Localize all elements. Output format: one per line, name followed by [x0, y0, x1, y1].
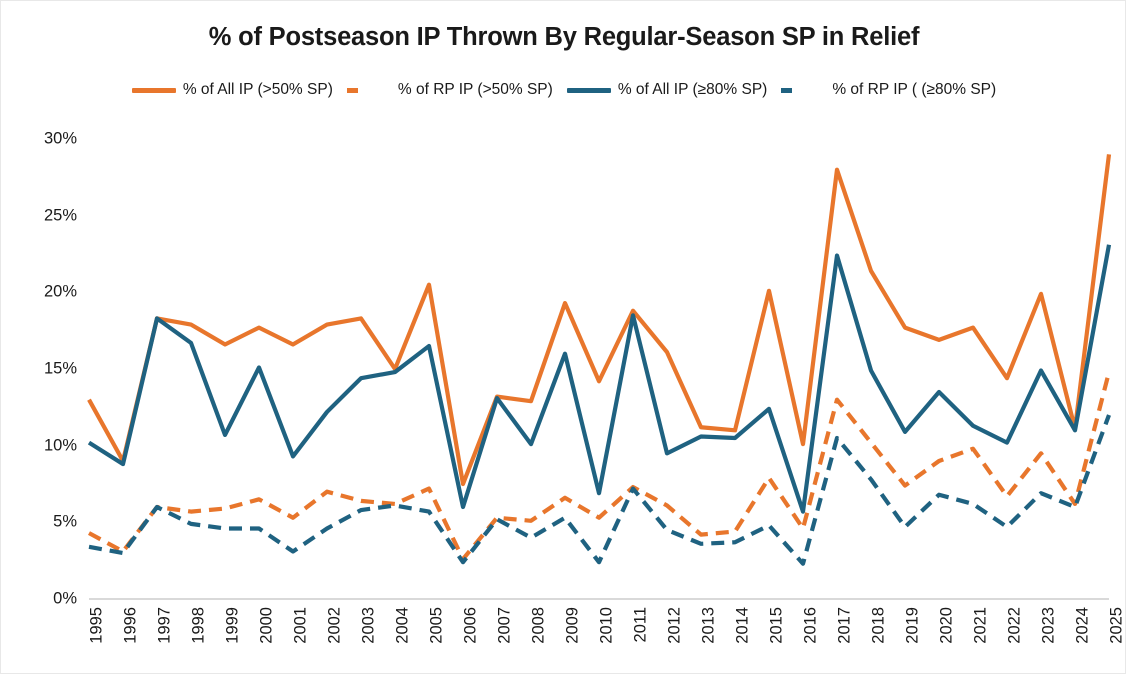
x-axis-tick-label: 2010: [598, 607, 617, 644]
x-axis-tick-label: 2020: [938, 607, 957, 644]
legend-item-3[interactable]: % of RP IP ( (≥80% SP): [781, 81, 996, 99]
legend-item-0[interactable]: % of All IP (>50% SP): [132, 81, 333, 99]
chart-title: % of Postseason IP Thrown By Regular-Sea…: [1, 23, 1126, 52]
y-axis-tick-label: 15%: [44, 360, 77, 379]
legend-swatch-icon: [781, 88, 825, 93]
x-axis-tick-label: 2007: [496, 607, 515, 644]
x-axis-tick-label: 2023: [1040, 607, 1059, 644]
x-axis-tick-label: 2017: [836, 607, 855, 644]
x-axis-tick-label: 1996: [122, 607, 141, 644]
x-axis-tick-label: 2025: [1108, 607, 1126, 644]
x-axis-tick-label: 2022: [1006, 607, 1025, 644]
x-axis-tick-label: 1995: [88, 607, 107, 644]
legend-item-label: % of RP IP (>50% SP): [398, 81, 553, 99]
chart-legend: % of All IP (>50% SP)% of RP IP (>50% SP…: [1, 81, 1126, 99]
y-axis-tick-label: 20%: [44, 283, 77, 302]
x-axis-tick-label: 1999: [224, 607, 243, 644]
legend-swatch-icon: [347, 88, 391, 93]
series-line-0: [89, 154, 1109, 484]
x-axis-tick-label: 1998: [190, 607, 209, 644]
legend-item-label: % of All IP (>50% SP): [183, 81, 333, 99]
x-axis-tick-label: 2004: [394, 607, 413, 644]
y-axis-tick-label: 30%: [44, 130, 77, 149]
x-axis-tick-label: 2011: [632, 607, 651, 642]
legend-item-1[interactable]: % of RP IP (>50% SP): [347, 81, 553, 99]
x-axis-tick-label: 2000: [258, 607, 277, 644]
x-axis: 1995199619971998199920002001200220032004…: [89, 603, 1109, 673]
x-axis-tick-label: 2024: [1074, 607, 1093, 644]
legend-item-label: % of All IP (≥80% SP): [618, 81, 768, 99]
x-axis-tick-label: 2014: [734, 607, 753, 644]
x-axis-tick-label: 2012: [666, 607, 685, 644]
y-axis-tick-label: 10%: [44, 436, 77, 455]
x-axis-tick-label: 2008: [530, 607, 549, 644]
y-axis-tick-label: 25%: [44, 206, 77, 225]
x-axis-tick-label: 2015: [768, 607, 787, 644]
x-axis-line: [89, 598, 1109, 600]
x-axis-tick-label: 2019: [904, 607, 923, 644]
x-axis-tick-label: 1997: [156, 607, 175, 644]
x-axis-tick-label: 2001: [292, 607, 311, 644]
legend-swatch-icon: [567, 88, 611, 93]
x-axis-tick-label: 2002: [326, 607, 345, 644]
y-axis-tick-label: 5%: [53, 513, 77, 532]
plot-svg: [89, 139, 1109, 599]
x-axis-tick-label: 2021: [972, 607, 991, 644]
legend-item-label: % of RP IP ( (≥80% SP): [832, 81, 996, 99]
x-axis-tick-label: 2003: [360, 607, 379, 644]
legend-item-2[interactable]: % of All IP (≥80% SP): [567, 81, 768, 99]
x-axis-tick-label: 2009: [564, 607, 583, 644]
x-axis-tick-label: 2013: [700, 607, 719, 644]
y-axis-tick-label: 0%: [53, 590, 77, 609]
x-axis-tick-label: 2018: [870, 607, 889, 644]
x-axis-tick-label: 2006: [462, 607, 481, 644]
plot-area: [89, 139, 1109, 599]
chart-container: % of Postseason IP Thrown By Regular-Sea…: [0, 0, 1126, 674]
x-axis-tick-label: 2016: [802, 607, 821, 644]
legend-swatch-icon: [132, 88, 176, 93]
x-axis-tick-label: 2005: [428, 607, 447, 644]
y-axis: 0%5%10%15%20%25%30%: [1, 139, 89, 599]
